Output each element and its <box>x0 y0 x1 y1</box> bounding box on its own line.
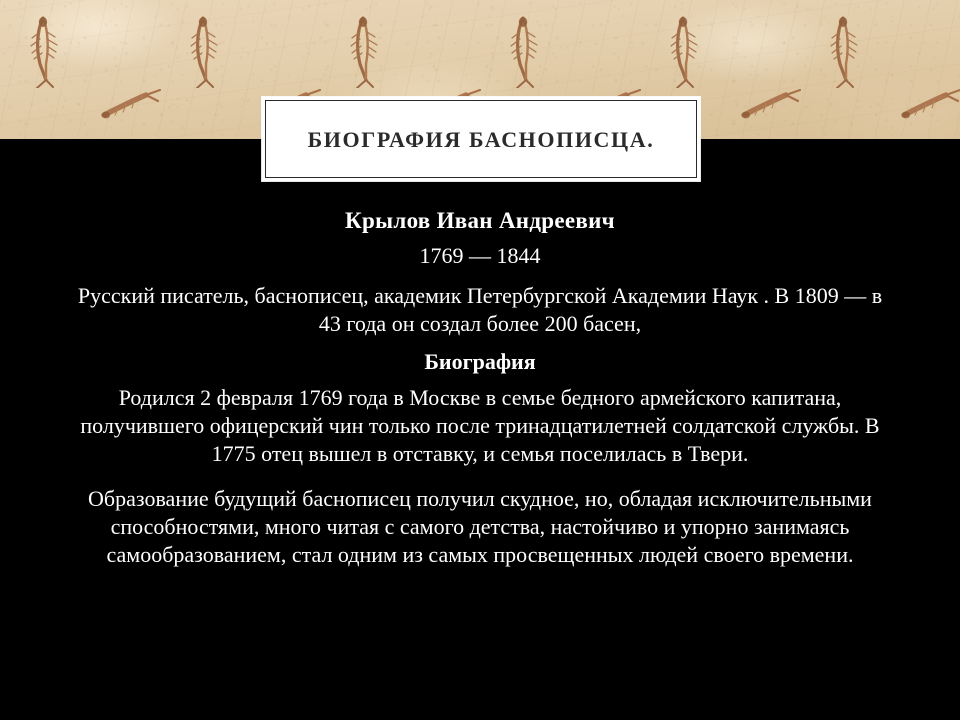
presentation-slide: БИОГРАФИЯ БАСНОПИСЦА. Крылов Иван Андрее… <box>0 0 960 720</box>
slide-title-plaque: БИОГРАФИЯ БАСНОПИСЦА. <box>262 97 700 181</box>
subject-name: Крылов Иван Андреевич <box>72 206 888 236</box>
section-heading-biography: Биография <box>72 348 888 377</box>
biography-paragraph-2: Образование будущий баснописец получил с… <box>72 485 888 569</box>
subject-lifespan: 1769 — 1844 <box>72 240 888 272</box>
slide-body: Крылов Иван Андреевич 1769 — 1844 Русски… <box>72 206 888 569</box>
biography-paragraph-1: Родился 2 февраля 1769 года в Москве в с… <box>72 384 888 468</box>
page-title: БИОГРАФИЯ БАСНОПИСЦА. <box>308 129 655 151</box>
intro-paragraph: Русский писатель, баснописец, академик П… <box>72 282 888 338</box>
slide-title-frame: БИОГРАФИЯ БАСНОПИСЦА. <box>265 100 697 178</box>
